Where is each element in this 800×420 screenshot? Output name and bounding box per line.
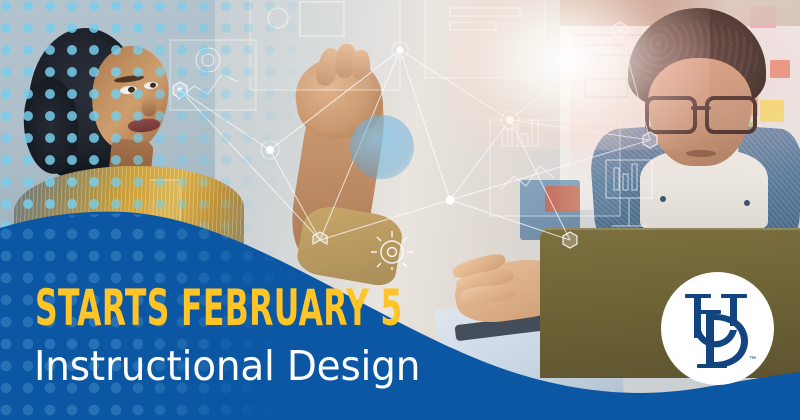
ud-logo: ™ <box>661 272 774 385</box>
hud-warm-glow <box>570 0 800 180</box>
kicker-start-date: STARTS FEBRUARY 5 <box>35 283 403 333</box>
promo-banner: STARTS FEBRUARY 5 Instructional Design ™ <box>0 0 800 420</box>
trademark-symbol: ™ <box>749 356 756 363</box>
shirt-button <box>744 200 750 206</box>
page-title: Instructional Design <box>34 346 420 387</box>
ud-monogram-icon <box>661 272 774 385</box>
hud-blue-orb <box>350 115 414 179</box>
